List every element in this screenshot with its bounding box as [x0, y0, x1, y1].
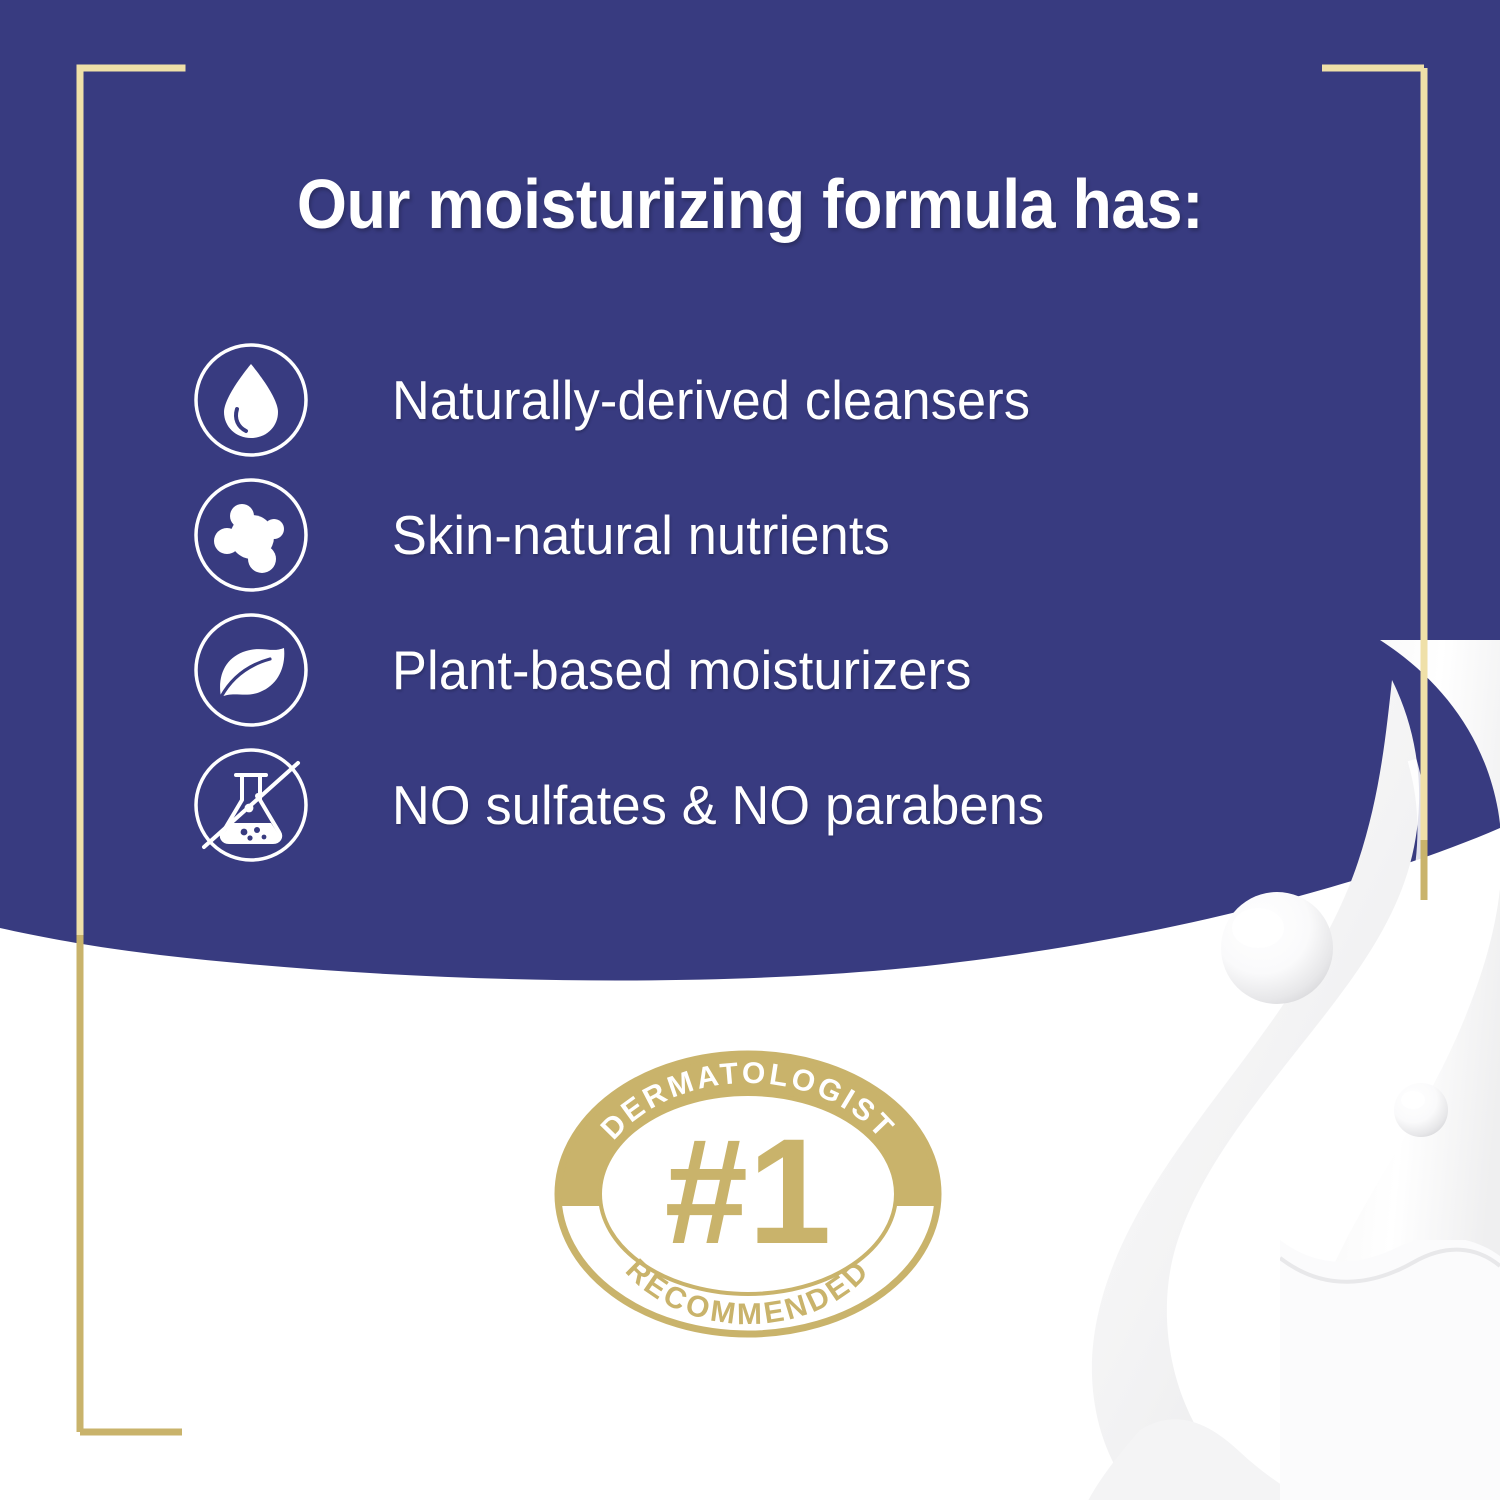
benefit-label: Plant-based moisturizers — [392, 638, 972, 702]
cream-splash-graphic — [1080, 640, 1500, 1500]
dermatologist-recommended-badge: DERMATOLOGIST RECOMMENDED #1 — [552, 1048, 944, 1340]
benefit-label: Naturally-derived cleansers — [392, 368, 1030, 432]
product-benefits-graphic: Our moisturizing formula has: Naturally-… — [0, 0, 1500, 1500]
water-droplet-icon — [190, 339, 312, 461]
benefit-label: Skin-natural nutrients — [392, 503, 890, 567]
cream-droplet-small — [1394, 1083, 1448, 1137]
page-title: Our moisturizing formula has: — [60, 168, 1440, 242]
leaf-icon — [190, 609, 312, 731]
no-chemicals-flask-icon — [190, 744, 312, 866]
molecule-nutrients-icon — [190, 474, 312, 596]
list-item: Naturally-derived cleansers — [190, 332, 1310, 467]
benefit-label: NO sulfates & NO parabens — [392, 773, 1044, 837]
list-item: Skin-natural nutrients — [190, 467, 1310, 602]
badge-rank-number: #1 — [665, 1107, 832, 1275]
cream-droplet-large — [1221, 892, 1333, 1004]
